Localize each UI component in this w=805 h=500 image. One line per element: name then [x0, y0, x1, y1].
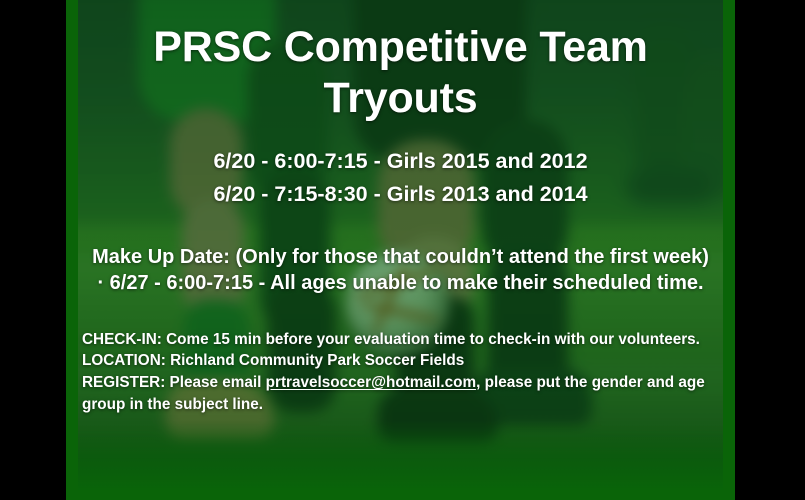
poster-frame: PRSC Competitive Team Tryouts 6/20 - 6:0… [66, 0, 735, 500]
schedule-line-2: 6/20 - 7:15-8:30 - Girls 2013 and 2014 [78, 178, 723, 211]
makeup-date-block: Make Up Date: (Only for those that could… [78, 244, 723, 297]
details-block: CHECK-IN: Come 15 min before your evalua… [78, 329, 723, 416]
makeup-detail: · 6/27 - 6:00-7:15 - All ages unable to … [78, 270, 723, 296]
flyer-content: PRSC Competitive Team Tryouts 6/20 - 6:0… [78, 0, 723, 500]
makeup-heading: Make Up Date: (Only for those that could… [78, 244, 723, 270]
flyer-root: PRSC Competitive Team Tryouts 6/20 - 6:0… [0, 0, 805, 500]
detail-check-in: CHECK-IN: Come 15 min before your evalua… [82, 329, 715, 351]
detail-register: REGISTER: Please email prtravelsoccer@ho… [82, 374, 705, 413]
page-title-line-2: Tryouts [324, 74, 478, 122]
letterbox-bar-right [735, 0, 805, 500]
tryout-schedule: 6/20 - 6:00-7:15 - Girls 2015 and 2012 6… [78, 145, 723, 210]
detail-location: LOCATION: Richland Community Park Soccer… [82, 350, 715, 372]
page-title: PRSC Competitive Team Tryouts [78, 0, 723, 123]
register-email-link[interactable]: prtravelsoccer@hotmail.com [266, 374, 476, 391]
schedule-line-1: 6/20 - 6:00-7:15 - Girls 2015 and 2012 [78, 145, 723, 178]
letterbox-bar-left [0, 0, 66, 500]
register-prefix-text: REGISTER: Please email [82, 374, 266, 391]
page-title-line-1: PRSC Competitive Team [153, 23, 647, 71]
